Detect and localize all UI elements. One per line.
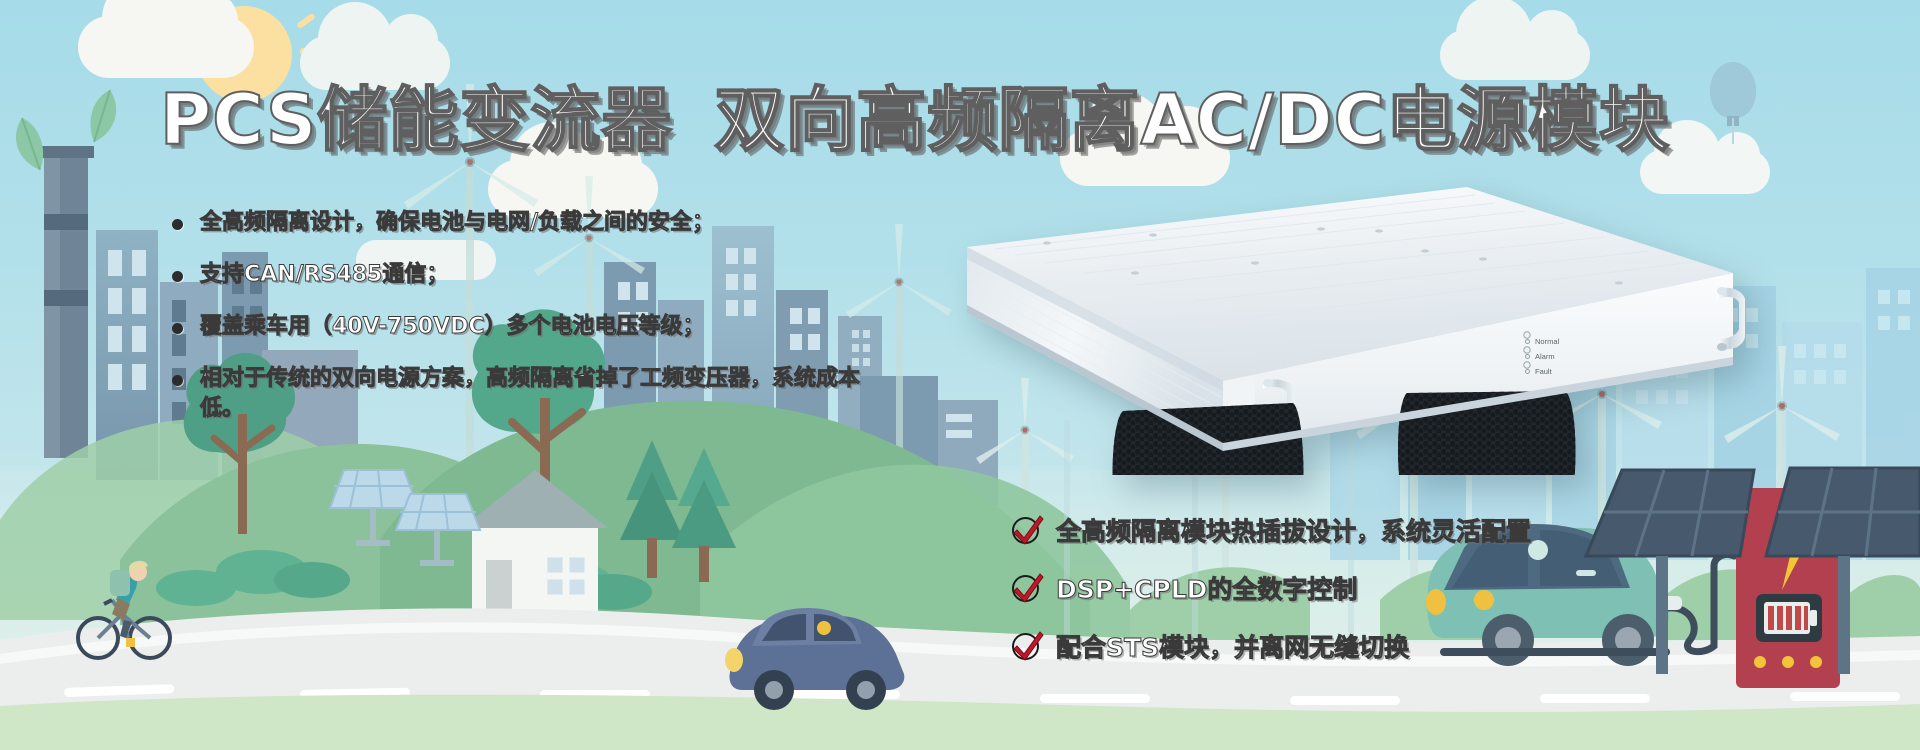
list-item: 全高频隔离模块热插拔设计，系统灵活配置 (1010, 512, 1531, 548)
led-fault-label: Fault (1535, 364, 1552, 379)
led-fault: Fault (1525, 364, 1559, 379)
title-part-2: 双向高频隔离AC/DC电源模块 (714, 79, 1670, 161)
bullet-text: 全高频隔离设计，确保电池与电网/负载之间的安全； (200, 208, 714, 238)
pcs-device-image (955, 185, 1745, 475)
led-dot-icon (1525, 339, 1530, 344)
led-alarm-label: Alarm (1535, 349, 1555, 364)
check-text: 配合STS模块，并离网无缝切换 (1056, 628, 1409, 664)
bullet-dot-icon (172, 271, 183, 282)
check-text: 全高频隔离模块热插拔设计，系统灵活配置 (1056, 512, 1531, 548)
bullet-text: 覆盖乘车用（40V-750VDC）多个电池电压等级； (200, 312, 705, 342)
bullet-dot-icon (172, 375, 183, 386)
device-led-labels: Normal Alarm Fault (1525, 334, 1559, 379)
led-normal-label: Normal (1535, 334, 1559, 349)
benefit-check-list: 全高频隔离模块热插拔设计，系统灵活配置 DSP+CPLD的全数字控制 配合STS… (1010, 512, 1531, 686)
list-item: 配合STS模块，并离网无缝切换 (1010, 628, 1531, 664)
list-item: 覆盖乘车用（40V-750VDC）多个电池电压等级； (172, 312, 932, 342)
list-item: 支持CAN/RS485通信； (172, 260, 932, 290)
led-dot-icon (1525, 354, 1530, 359)
check-text: DSP+CPLD的全数字控制 (1056, 570, 1357, 606)
check-circle-icon (1010, 513, 1044, 547)
led-alarm: Alarm (1525, 349, 1559, 364)
bullet-text: 支持CAN/RS485通信； (200, 260, 448, 290)
list-item: 相对于传统的双向电源方案，高频隔离省掉了工频变压器，系统成本低。 (172, 364, 872, 424)
led-normal: Normal (1525, 334, 1559, 349)
list-item: 全高频隔离设计，确保电池与电网/负载之间的安全； (172, 208, 932, 238)
feature-bullet-list: 全高频隔离设计，确保电池与电网/负载之间的安全； 支持CAN/RS485通信； … (172, 208, 932, 446)
page-title: PCS储能变流器双向高频隔离AC/DC电源模块 (160, 64, 1670, 165)
promo-banner: Normal Alarm Fault PCS储能变流器双向高频隔离AC/DC电源… (0, 0, 1920, 750)
bullet-dot-icon (172, 219, 183, 230)
check-circle-icon (1010, 571, 1044, 605)
list-item: DSP+CPLD的全数字控制 (1010, 570, 1531, 606)
title-part-1: PCS储能变流器 (160, 79, 672, 161)
check-circle-icon (1010, 629, 1044, 663)
bullet-dot-icon (172, 323, 183, 334)
bullet-text: 相对于传统的双向电源方案，高频隔离省掉了工频变压器，系统成本低。 (200, 364, 872, 424)
led-dot-icon (1525, 369, 1530, 374)
